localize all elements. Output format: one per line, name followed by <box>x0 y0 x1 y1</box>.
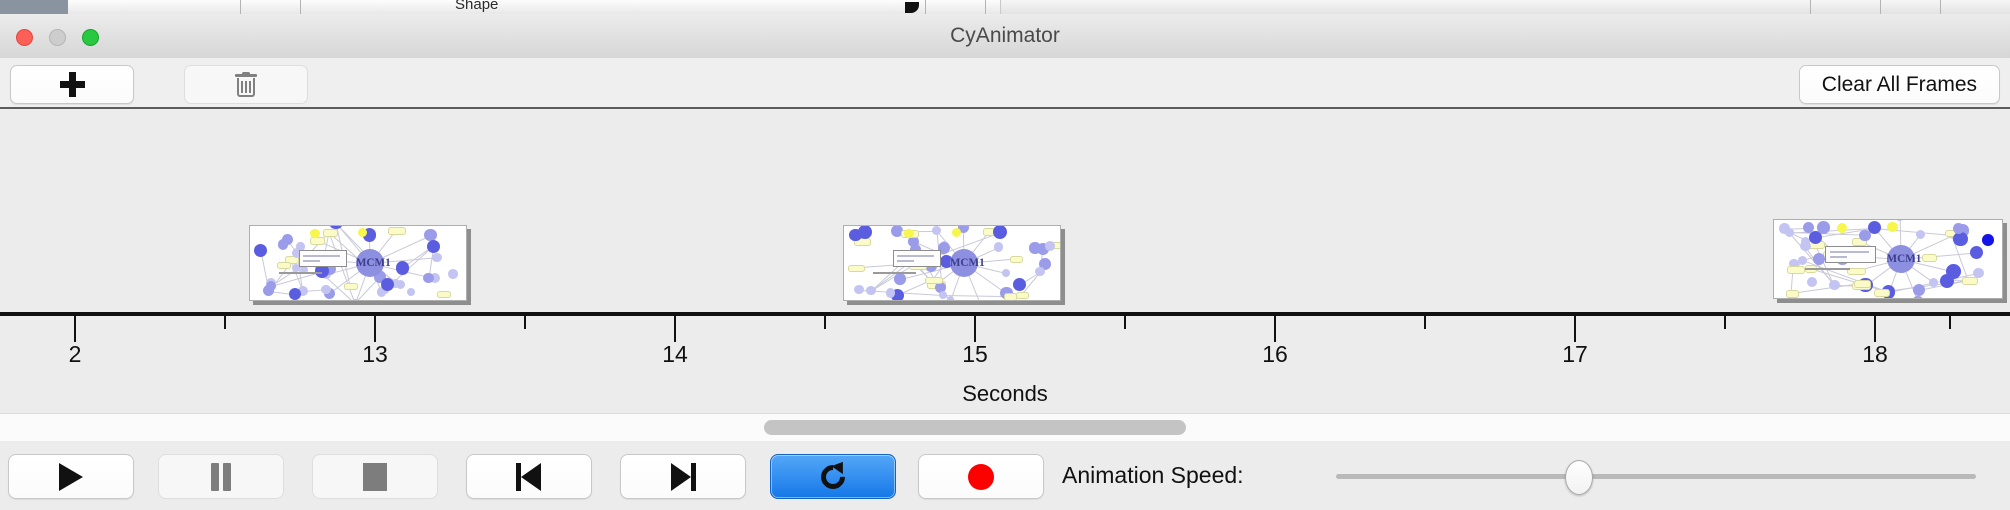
timeline-tick-minor <box>1949 316 1951 329</box>
network-node <box>1029 242 1040 253</box>
network-node-label <box>310 237 325 245</box>
plus-icon <box>60 72 85 97</box>
background-window-strip: Shape <box>0 0 2010 14</box>
animation-speed-slider[interactable] <box>1336 474 1976 479</box>
network-node <box>321 285 331 295</box>
network-node <box>448 269 458 279</box>
network-annotation-box <box>1825 246 1876 264</box>
network-hub-label: MCM1 <box>356 257 384 269</box>
network-node-label <box>925 277 943 285</box>
network-node <box>866 286 876 296</box>
network-node <box>1798 256 1808 266</box>
skip-forward-icon <box>670 463 696 491</box>
timeline-tick-label: 14 <box>662 341 688 368</box>
play-button[interactable] <box>8 454 134 499</box>
network-caption <box>279 272 322 274</box>
timeline-frame-thumbnail[interactable]: MCM1 <box>1773 219 2007 303</box>
background-window-label: Shape <box>455 0 498 13</box>
background-panel-2 <box>176 0 249 14</box>
network-node-label <box>1786 290 1799 298</box>
network-caption <box>1805 268 1851 270</box>
delete-frame-button[interactable] <box>184 65 308 104</box>
network-node <box>1916 230 1925 239</box>
network-node <box>1035 267 1044 276</box>
window-title: CyAnimator <box>0 14 2010 58</box>
animation-speed-slider-thumb[interactable] <box>1565 460 1593 495</box>
animation-speed-label: Animation Speed: <box>1062 454 1244 497</box>
network-node-label <box>1004 293 1017 301</box>
timeline-tick-minor <box>224 316 226 329</box>
stop-button[interactable] <box>312 454 438 499</box>
network-node <box>1970 246 1983 259</box>
clear-all-frames-button[interactable]: Clear All Frames <box>1799 65 2000 104</box>
background-panel-1 <box>68 0 177 14</box>
timeline-tick-major <box>974 316 976 342</box>
network-node <box>423 273 433 283</box>
playback-toolbar: Animation Speed: <box>0 441 2010 510</box>
network-node-label <box>1854 280 1871 288</box>
timeline-tick-minor <box>824 316 826 329</box>
play-icon <box>59 463 83 491</box>
timeline-frame-thumbnail[interactable]: MCM1 <box>249 225 471 305</box>
network-node <box>1912 296 1924 299</box>
stop-icon <box>363 463 387 491</box>
timeline-frame-thumbnail[interactable]: MCM1 <box>843 225 1065 305</box>
network-node-label <box>1962 277 1978 285</box>
timeline-tick-label: 13 <box>362 341 388 368</box>
network-node <box>1929 278 1938 287</box>
network-node <box>886 288 896 298</box>
timeline-panel[interactable]: 2131415161718 MCM1MCM1MCM1 Seconds <box>0 109 2010 413</box>
timeline-tick-minor <box>1424 316 1426 329</box>
network-node <box>854 285 863 294</box>
timeline-tick-label: 16 <box>1262 341 1288 368</box>
timeline-tick-major <box>74 316 76 342</box>
network-node <box>1913 284 1925 296</box>
timeline-tick-label: 18 <box>1862 341 1888 368</box>
network-node <box>254 244 267 257</box>
add-frame-button[interactable] <box>10 65 134 104</box>
network-node <box>1817 221 1829 233</box>
title-bar: CyAnimator <box>0 14 2010 59</box>
timeline-tick-label: 2 <box>69 341 82 368</box>
timeline-tick-minor <box>1124 316 1126 329</box>
trash-icon <box>235 72 257 98</box>
network-node <box>296 242 304 250</box>
pause-icon <box>210 463 232 491</box>
network-node <box>1895 219 1905 221</box>
network-node <box>1953 232 1968 247</box>
network-node <box>396 261 409 274</box>
network-node-highlight <box>952 228 962 238</box>
network-node <box>858 225 872 239</box>
record-icon <box>968 464 994 490</box>
network-node <box>289 288 302 301</box>
network-node <box>266 281 277 292</box>
network-node-highlight <box>1887 222 1897 232</box>
network-node-label <box>323 229 337 237</box>
network-node-highlight <box>310 229 320 239</box>
network-node <box>1002 269 1011 278</box>
skip-back-icon <box>516 463 542 491</box>
network-node-label <box>437 291 451 299</box>
background-panel-4 <box>310 0 411 14</box>
frame-network-image: MCM1 <box>1773 219 2003 299</box>
loop-button[interactable] <box>770 454 896 499</box>
network-node <box>1013 278 1026 291</box>
network-node-label <box>277 262 292 270</box>
last-frame-button[interactable] <box>620 454 746 499</box>
timeline-tick-label: 15 <box>962 341 988 368</box>
network-node <box>1807 277 1817 287</box>
timeline-tick-major <box>674 316 676 342</box>
frame-network-image: MCM1 <box>249 225 467 301</box>
network-node <box>993 225 1007 239</box>
background-panel-3 <box>248 0 311 14</box>
first-frame-button[interactable] <box>466 454 592 499</box>
timeline-tick-major <box>1274 316 1276 342</box>
timeline-scrollbar[interactable] <box>0 413 2010 442</box>
network-node-highlight <box>904 229 914 239</box>
network-node-label <box>1010 256 1023 264</box>
network-node <box>381 278 394 291</box>
network-node <box>1779 223 1789 233</box>
timeline-tick-minor <box>1724 316 1726 329</box>
network-node-label <box>1016 292 1029 300</box>
network-node-label <box>1922 254 1937 262</box>
network-node-label <box>848 265 865 273</box>
frame-network-image: MCM1 <box>843 225 1061 301</box>
network-annotation-box <box>893 250 941 267</box>
network-node <box>1829 280 1839 290</box>
timeline-axis <box>0 312 2010 316</box>
timeline-tick-major <box>374 316 376 342</box>
cyanimator-window: Shape CyAnimator Clear All Frames 213141… <box>0 0 2010 510</box>
frames-toolbar: Clear All Frames <box>0 58 2010 109</box>
loop-icon <box>818 462 848 492</box>
network-hub-label: MCM1 <box>1887 253 1915 265</box>
timeline-tick-major <box>1574 316 1576 342</box>
background-titlebar-segment <box>0 0 68 14</box>
network-node <box>1859 230 1870 241</box>
network-node <box>1045 241 1055 251</box>
record-button[interactable] <box>918 454 1044 499</box>
network-node <box>278 239 289 250</box>
network-node <box>1940 274 1954 288</box>
network-node-label <box>1874 289 1890 297</box>
timeline-tick-minor <box>524 316 526 329</box>
network-node <box>947 296 955 301</box>
pause-button[interactable] <box>158 454 284 499</box>
timeline-axis-caption: Seconds <box>0 381 2010 407</box>
network-annotation-box <box>299 250 347 267</box>
network-node <box>894 273 905 284</box>
timeline-tick-label: 17 <box>1562 341 1588 368</box>
network-node-label <box>388 227 405 235</box>
network-node <box>1800 241 1811 252</box>
network-edge <box>1874 228 1953 236</box>
network-node <box>939 291 947 299</box>
network-node-selected <box>1982 234 1994 246</box>
network-edge <box>1791 283 1861 294</box>
network-node <box>407 288 415 296</box>
network-hub-label: MCM1 <box>950 257 978 269</box>
network-caption <box>873 272 916 274</box>
network-node <box>427 240 440 253</box>
network-node-label <box>344 283 358 291</box>
network-node <box>432 253 441 262</box>
timeline-tick-major <box>1874 316 1876 342</box>
timeline-scrollbar-thumb[interactable] <box>764 420 1186 435</box>
network-node <box>1953 223 1964 234</box>
network-node-label <box>1787 266 1806 274</box>
network-node <box>994 242 1004 252</box>
